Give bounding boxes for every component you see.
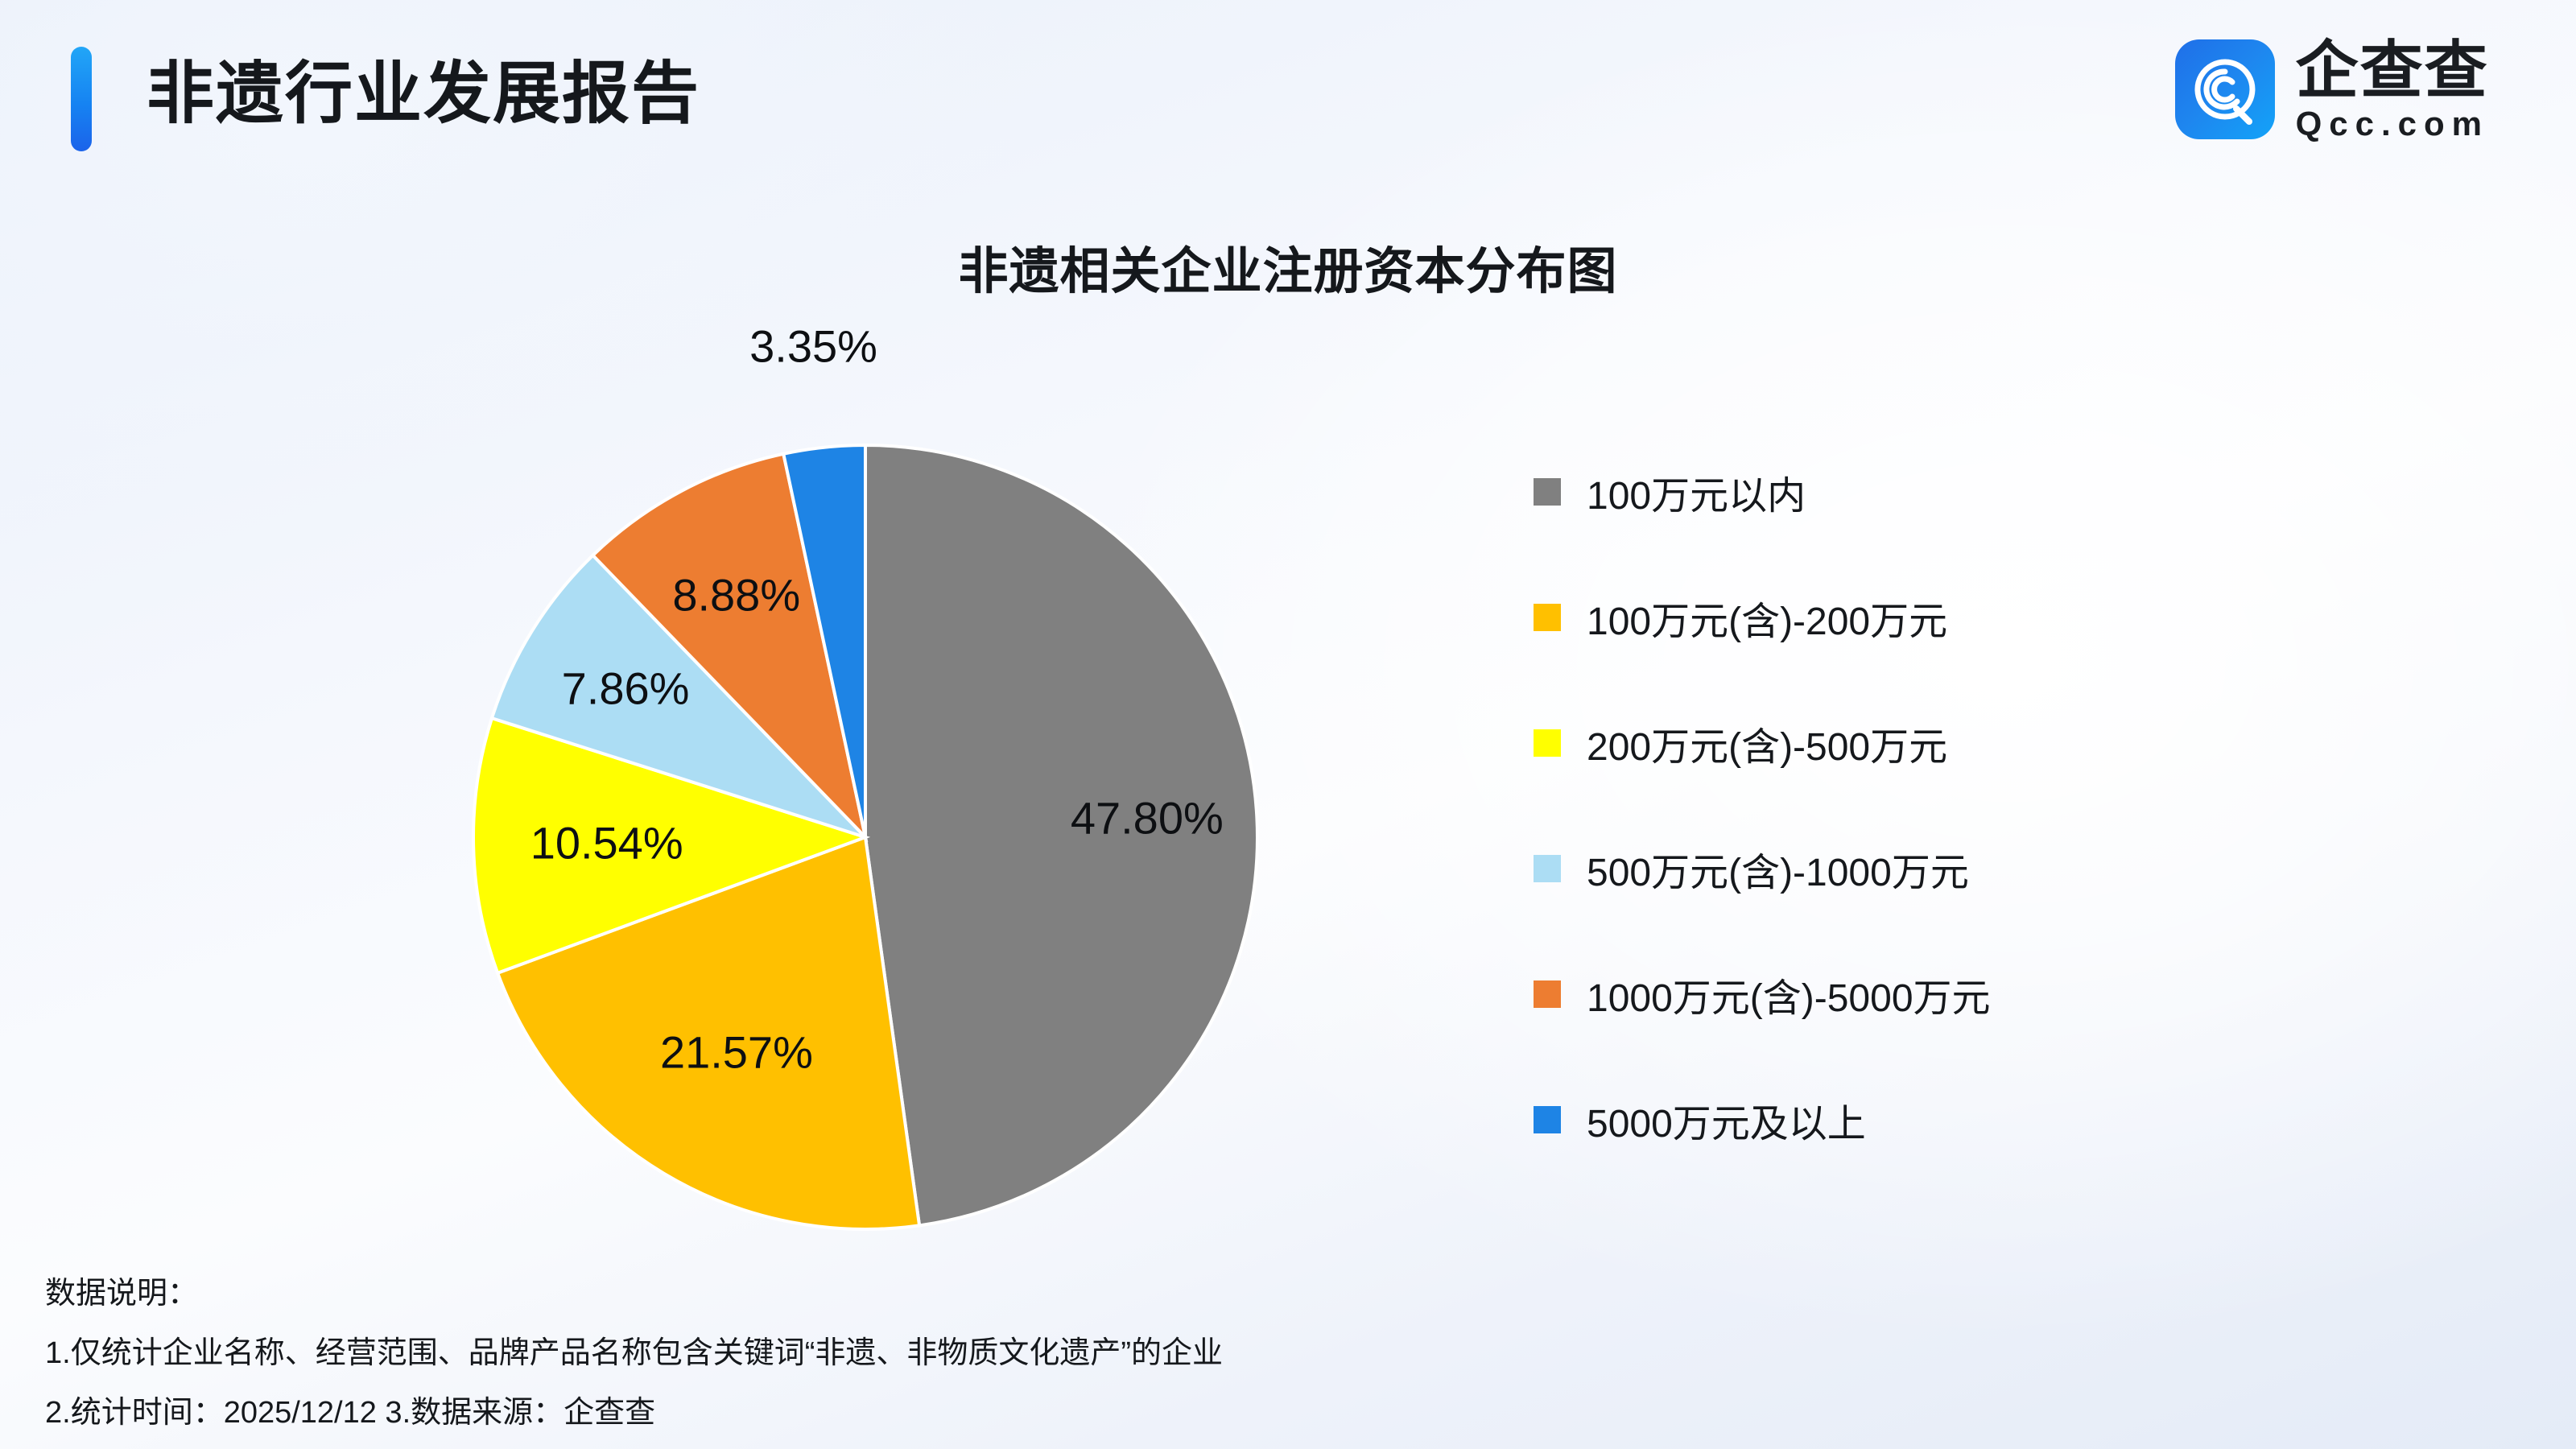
- legend-item-label: 100万元以内: [1587, 464, 1806, 520]
- footnotes: 数据说明： 1.仅统计企业名称、经营范围、品牌产品名称包含关键词“非遗、非物质文…: [45, 1264, 1977, 1443]
- title-accent-bar: [71, 47, 92, 151]
- chart-title: 非遗相关企业注册资本分布图: [0, 230, 2576, 303]
- legend-item-label: 5000万元及以上: [1587, 1092, 1866, 1148]
- legend-swatch-icon: [1534, 478, 1561, 506]
- legend-swatch-icon: [1534, 729, 1561, 757]
- pie-slice-label: 7.86%: [562, 663, 690, 715]
- footnote-line-2: 2.统计时间：2025/12/12 3.数据来源：企查查: [45, 1383, 1977, 1443]
- brand-text: 企查查 Qcc.com: [2296, 35, 2489, 143]
- legend-item-label: 500万元(含)-1000万元: [1587, 840, 1969, 897]
- pie-slice-label: 3.35%: [749, 320, 877, 372]
- page-title: 非遗行业发展报告: [147, 37, 700, 150]
- pie-chart: 47.80%21.57%10.54%7.86%8.88%3.35%: [471, 443, 1260, 1232]
- legend-item-label: 100万元(含)-200万元: [1587, 589, 1947, 646]
- legend-swatch-icon: [1534, 1106, 1561, 1133]
- chart-legend: 100万元以内100万元(含)-200万元200万元(含)-500万元500万元…: [1534, 460, 2435, 1214]
- legend-item-label: 200万元(含)-500万元: [1587, 715, 1947, 771]
- legend-item[interactable]: 5000万元及以上: [1534, 1088, 2435, 1151]
- legend-item-label: 1000万元(含)-5000万元: [1587, 966, 1991, 1022]
- legend-swatch-icon: [1534, 980, 1561, 1008]
- pie-slice-label: 10.54%: [530, 817, 683, 869]
- legend-item[interactable]: 100万元以内: [1534, 460, 2435, 523]
- pie-slice-label: 8.88%: [672, 569, 800, 621]
- legend-item[interactable]: 200万元(含)-500万元: [1534, 712, 2435, 774]
- brand-logo[interactable]: 企查查 Qcc.com: [2175, 37, 2489, 142]
- footnote-line-1: 1.仅统计企业名称、经营范围、品牌产品名称包含关键词“非遗、非物质文化遗产”的企…: [45, 1323, 1977, 1383]
- legend-item[interactable]: 100万元(含)-200万元: [1534, 586, 2435, 649]
- legend-item[interactable]: 500万元(含)-1000万元: [1534, 837, 2435, 900]
- legend-swatch-icon: [1534, 855, 1561, 882]
- pie-slice-label: 47.80%: [1071, 791, 1224, 844]
- legend-swatch-icon: [1534, 604, 1561, 631]
- footnote-heading: 数据说明：: [45, 1264, 1977, 1323]
- legend-item[interactable]: 1000万元(含)-5000万元: [1534, 963, 2435, 1026]
- brand-domain: Qcc.com: [2296, 105, 2489, 143]
- brand-name: 企查查: [2296, 35, 2489, 105]
- pie-slice-label: 21.57%: [660, 1026, 813, 1079]
- page-header: 非遗行业发展报告 企查查 Qcc.com: [0, 0, 2576, 193]
- qcc-logo-icon: [2175, 39, 2275, 139]
